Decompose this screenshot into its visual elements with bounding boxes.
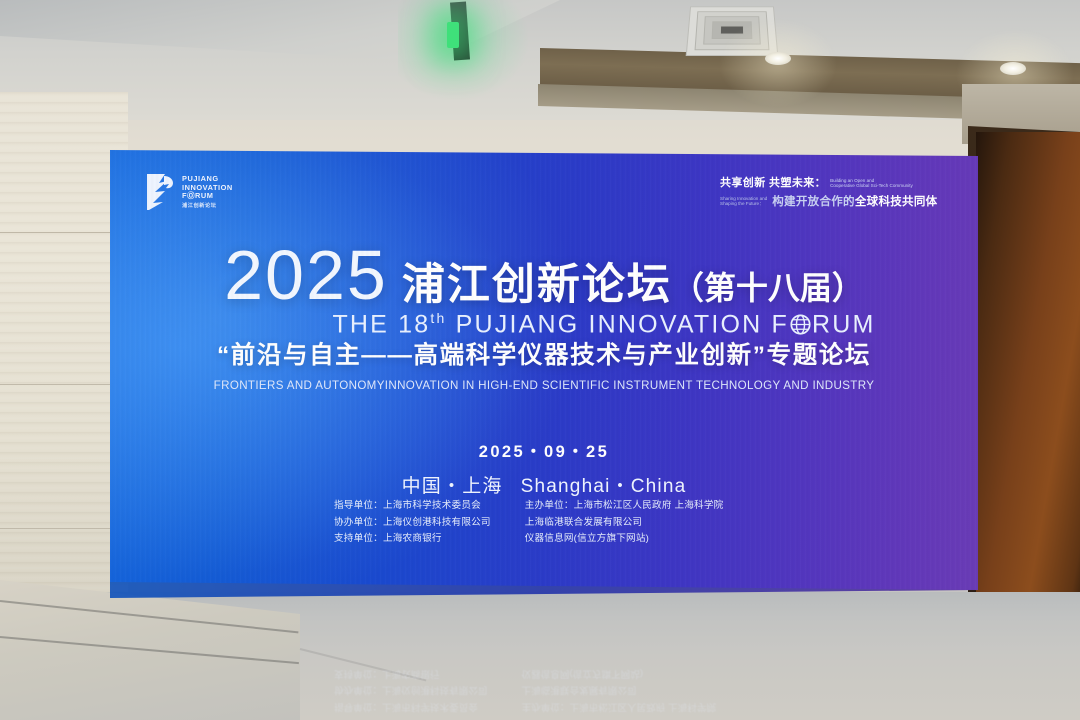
slogan-english-line1: Building an Open andCooperative Global S… xyxy=(830,178,913,190)
forum-logo: PUJIANG INNOVATION FⓄRUM 浦江创新论坛 xyxy=(145,172,233,212)
event-location: 中国・上海Shanghai・China xyxy=(110,471,978,498)
stage-backdrop-banner: PUJIANG INNOVATION FⓄRUM 浦江创新论坛 共享创新 共塑未… xyxy=(110,150,978,590)
slogan-chinese-line2: 构建开放合作的全球科技共同体 xyxy=(772,193,937,209)
organizers-left-column: 指导单位：上海市科学技术委员会 协办单位：上海仪创港科技有限公司 支持单位：上海… xyxy=(334,498,491,548)
forum-logo-wordmark: PUJIANG INNOVATION FⓄRUM 浦江创新论坛 xyxy=(182,172,233,209)
banner-headline: 2025 浦江创新论坛（第十八届） THE 18th PUJIANG INNOV… xyxy=(110,242,978,339)
headline-english-title: THE 18th PUJIANG INNOVATION FRUM xyxy=(110,310,978,339)
organizer-line: 上海临港联合发展有限公司 xyxy=(525,515,724,532)
recessed-downlight-icon xyxy=(1000,62,1026,75)
recessed-downlight-icon xyxy=(765,52,791,65)
organizers-right-column: 主办单位：上海市松江区人民政府 上海科学院 上海临港联合发展有限公司 仪器信息网… xyxy=(525,498,724,548)
subtitle-chinese: “前沿与自主——高端科学仪器技术与产业创新”专题论坛 xyxy=(110,336,978,371)
logo-line-forum: FⓄRUM xyxy=(182,192,233,201)
globe-icon xyxy=(790,313,811,334)
organizer-line: 指导单位：上海市科学技术委员会 xyxy=(334,498,491,515)
event-date: 2025・09・25 xyxy=(110,438,978,462)
headline-year: 2025 xyxy=(224,242,388,309)
slogan-english-line2: Sharing Innovation andShaping the Future… xyxy=(720,196,767,209)
pujiang-swan-mark-icon xyxy=(145,172,175,212)
banner-subtitle: “前沿与自主——高端科学仪器技术与产业创新”专题论坛 FRONTIERS AND… xyxy=(110,336,978,392)
subtitle-english: FRONTIERS AND AUTONOMYINNOVATION IN HIGH… xyxy=(110,379,978,392)
organizer-line: 主办单位：上海市松江区人民政府 上海科学院 xyxy=(525,498,724,515)
conference-hall-photo: PUJIANG INNOVATION FⓄRUM 浦江创新论坛 共享创新 共塑未… xyxy=(0,0,1080,720)
logo-line-chinese: 浦江创新论坛 xyxy=(182,203,233,209)
banner-organizers: 指导单位：上海市科学技术委员会 协办单位：上海仪创港科技有限公司 支持单位：上海… xyxy=(334,498,723,548)
organizer-line: 支持单位：上海农商银行 xyxy=(334,531,491,548)
banner-slogan: 共享创新 共塑未来： Building an Open andCooperati… xyxy=(720,174,952,209)
floor-text-reflection: 指导单位：上海市科学技术委员会 协办单位：上海仪创港科技有限公司 支持单位：上海… xyxy=(334,648,764,714)
wood-door[interactable] xyxy=(976,132,1080,632)
slogan-chinese-line1: 共享创新 共塑未来： xyxy=(720,174,826,190)
organizer-line: 仪器信息网(信立方旗下网站) xyxy=(525,531,724,548)
banner-event-info: 2025・09・25 中国・上海Shanghai・China xyxy=(110,438,978,498)
organizer-line: 协办单位：上海仪创港科技有限公司 xyxy=(334,515,491,532)
green-exit-light-icon xyxy=(447,22,459,48)
left-stone-wall xyxy=(0,92,128,652)
headline-chinese-title: 浦江创新论坛（第十八届） xyxy=(402,250,864,312)
